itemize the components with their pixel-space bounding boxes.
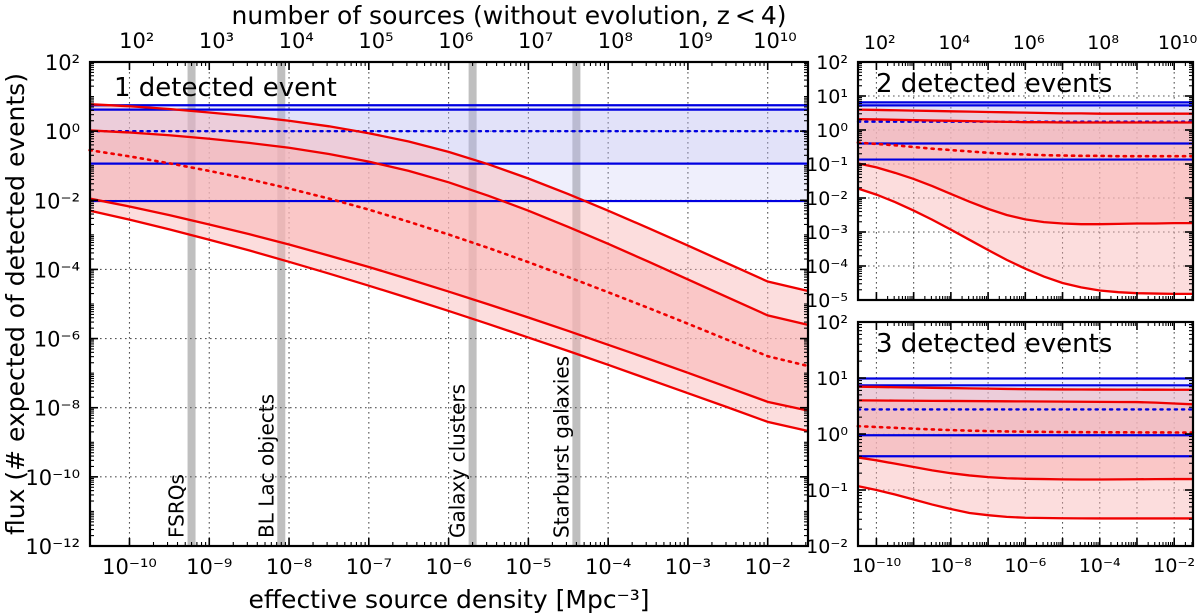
p2-ytick-label-4: 10⁻² xyxy=(806,188,848,210)
top-xtick-label-5: 10⁷ xyxy=(518,29,553,53)
top-axis-title: number of sources (without evolution, z … xyxy=(232,1,787,30)
xtick-label-0: 10⁻¹⁰ xyxy=(102,555,157,579)
source-marker-label-1: BL Lac objects xyxy=(254,394,278,538)
p3-xtick-label-3: 10⁻⁴ xyxy=(1079,555,1121,577)
p2-ytick-label-3: 10⁻¹ xyxy=(806,154,848,176)
p3-ytick-label-0: 10² xyxy=(816,312,848,334)
p2-ytick-label-6: 10⁻⁴ xyxy=(806,256,848,278)
p2-ytick-label-1: 10¹ xyxy=(816,86,848,108)
top-xtick-label-1: 10³ xyxy=(199,29,234,53)
p2-ytick-label-7: 10⁻⁵ xyxy=(806,290,848,312)
p3-ytick-label-4: 10⁻² xyxy=(806,536,848,558)
xtick-label-4: 10⁻⁶ xyxy=(425,555,471,579)
figure-svg: 10⁻¹⁰10⁻⁹10⁻⁸10⁻⁷10⁻⁶10⁻⁵10⁻⁴10⁻³10⁻²10²… xyxy=(0,0,1200,615)
top-xtick-label-8: 10¹⁰ xyxy=(753,29,797,53)
p3-ytick-label-3: 10⁻¹ xyxy=(806,480,848,502)
p3-xtick-label-1: 10⁻⁸ xyxy=(930,555,972,577)
p2-ytick-label-2: 10⁰ xyxy=(816,120,848,142)
y-axis-title: flux (# expected of detected events) xyxy=(1,73,30,535)
xtick-label-1: 10⁻⁹ xyxy=(186,555,232,579)
ytick-label-0: 10² xyxy=(45,51,80,75)
p3-xtick-label-4: 10⁻² xyxy=(1153,555,1195,577)
p2-top-xtick-label-1: 10⁴ xyxy=(938,32,970,54)
p3-xtick-label-0: 10⁻¹⁰ xyxy=(852,555,901,577)
ytick-label-3: 10⁻⁴ xyxy=(34,258,80,282)
xtick-label-8: 10⁻² xyxy=(745,555,791,579)
panel-title-main: 1 detected event xyxy=(114,73,337,103)
p2-top-xtick-label-3: 10⁸ xyxy=(1087,32,1119,54)
panel-title-2: 2 detected events xyxy=(876,69,1112,99)
ytick-label-2: 10⁻² xyxy=(34,189,80,213)
p2-top-xtick-label-2: 10⁶ xyxy=(1013,32,1045,54)
top-xtick-label-0: 10² xyxy=(119,29,154,53)
top-xtick-label-2: 10⁴ xyxy=(279,29,314,53)
xtick-label-5: 10⁻⁵ xyxy=(505,555,551,579)
p3-xtick-label-2: 10⁻⁶ xyxy=(1004,555,1046,577)
p2-top-xtick-label-0: 10² xyxy=(864,32,896,54)
top-xtick-label-6: 10⁸ xyxy=(598,29,633,53)
source-marker-label-3: Starburst galaxies xyxy=(549,356,573,538)
ytick-label-1: 10⁰ xyxy=(45,120,80,144)
ytick-label-4: 10⁻⁶ xyxy=(34,328,80,352)
ytick-label-5: 10⁻⁸ xyxy=(34,397,80,421)
figure-root: 10⁻¹⁰10⁻⁹10⁻⁸10⁻⁷10⁻⁶10⁻⁵10⁻⁴10⁻³10⁻²10²… xyxy=(0,0,1200,615)
ytick-label-6: 10⁻¹⁰ xyxy=(25,466,80,490)
p2-ytick-label-0: 10² xyxy=(816,52,848,74)
p2-top-xtick-label-4: 10¹⁰ xyxy=(1158,32,1197,54)
top-xtick-label-4: 10⁶ xyxy=(438,29,473,53)
p2-ytick-label-5: 10⁻³ xyxy=(806,222,848,244)
top-xtick-label-3: 10⁵ xyxy=(358,29,393,53)
top-xtick-label-7: 10⁹ xyxy=(678,29,713,53)
xtick-label-6: 10⁻⁴ xyxy=(585,555,631,579)
p3-ytick-label-1: 10¹ xyxy=(816,368,848,390)
xtick-label-3: 10⁻⁷ xyxy=(346,555,392,579)
source-marker-label-0: FSRQs xyxy=(165,474,189,538)
p3-ytick-label-2: 10⁰ xyxy=(816,424,848,446)
ytick-label-7: 10⁻¹² xyxy=(25,535,80,559)
panel-title-3: 3 detected events xyxy=(876,329,1112,359)
xtick-label-2: 10⁻⁸ xyxy=(266,555,312,579)
x-axis-title: effective source density [Mpc⁻³] xyxy=(248,585,649,614)
xtick-label-7: 10⁻³ xyxy=(665,555,711,579)
source-marker-label-2: Galaxy clusters xyxy=(446,384,470,538)
